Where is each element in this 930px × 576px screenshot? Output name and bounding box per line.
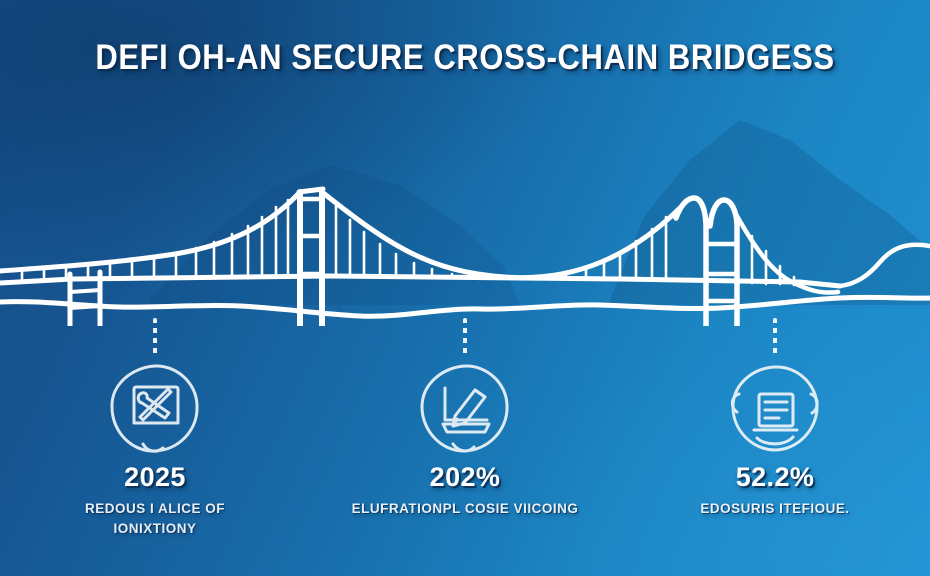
title-container: DEFI OH-AN SECURE CROSS-CHAIN BRIDGESS — [0, 38, 930, 72]
pencil-document-icon[interactable] — [417, 360, 513, 456]
stat-label: EDOSURIS ITEFIOUE. — [645, 499, 905, 519]
connector-line — [153, 318, 157, 358]
stats-row: 2025 REDOUS I ALICE OF IONIXTIONY — [0, 318, 930, 576]
stat-value: 52.2% — [736, 462, 815, 493]
stat-value: 2025 — [124, 462, 186, 493]
stat-item: 52.2% EDOSURIS ITEFIOUE. — [620, 318, 930, 576]
stat-item: 202% ELUFRATIONPL COSIE VIICOING — [310, 318, 620, 576]
bridge-illustration — [0, 96, 930, 326]
infographic-poster: DEFI OH-AN SECURE CROSS-CHAIN BRIDGESS — [0, 0, 930, 576]
stat-label: ELUFRATIONPL COSIE VIICOING — [335, 499, 595, 519]
stat-label-line1: REDOUS I ALICE OF — [85, 501, 225, 516]
screen-crossed-tools-icon[interactable] — [107, 360, 203, 456]
stat-item: 2025 REDOUS I ALICE OF IONIXTIONY — [0, 318, 310, 576]
stat-label-line1: EDOSURIS ITEFIOUE. — [700, 501, 849, 516]
stat-label: REDOUS I ALICE OF IONIXTIONY — [25, 499, 285, 538]
stat-label-line1: ELUFRATIONPL COSIE VIICOING — [352, 501, 579, 516]
document-list-icon[interactable] — [727, 360, 823, 456]
connector-line — [463, 318, 467, 358]
stat-value: 202% — [430, 462, 501, 493]
connector-line — [773, 318, 777, 358]
stat-label-line2: IONIXTIONY — [25, 519, 285, 539]
page-title: DEFI OH-AN SECURE CROSS-CHAIN BRIDGESS — [95, 38, 834, 77]
